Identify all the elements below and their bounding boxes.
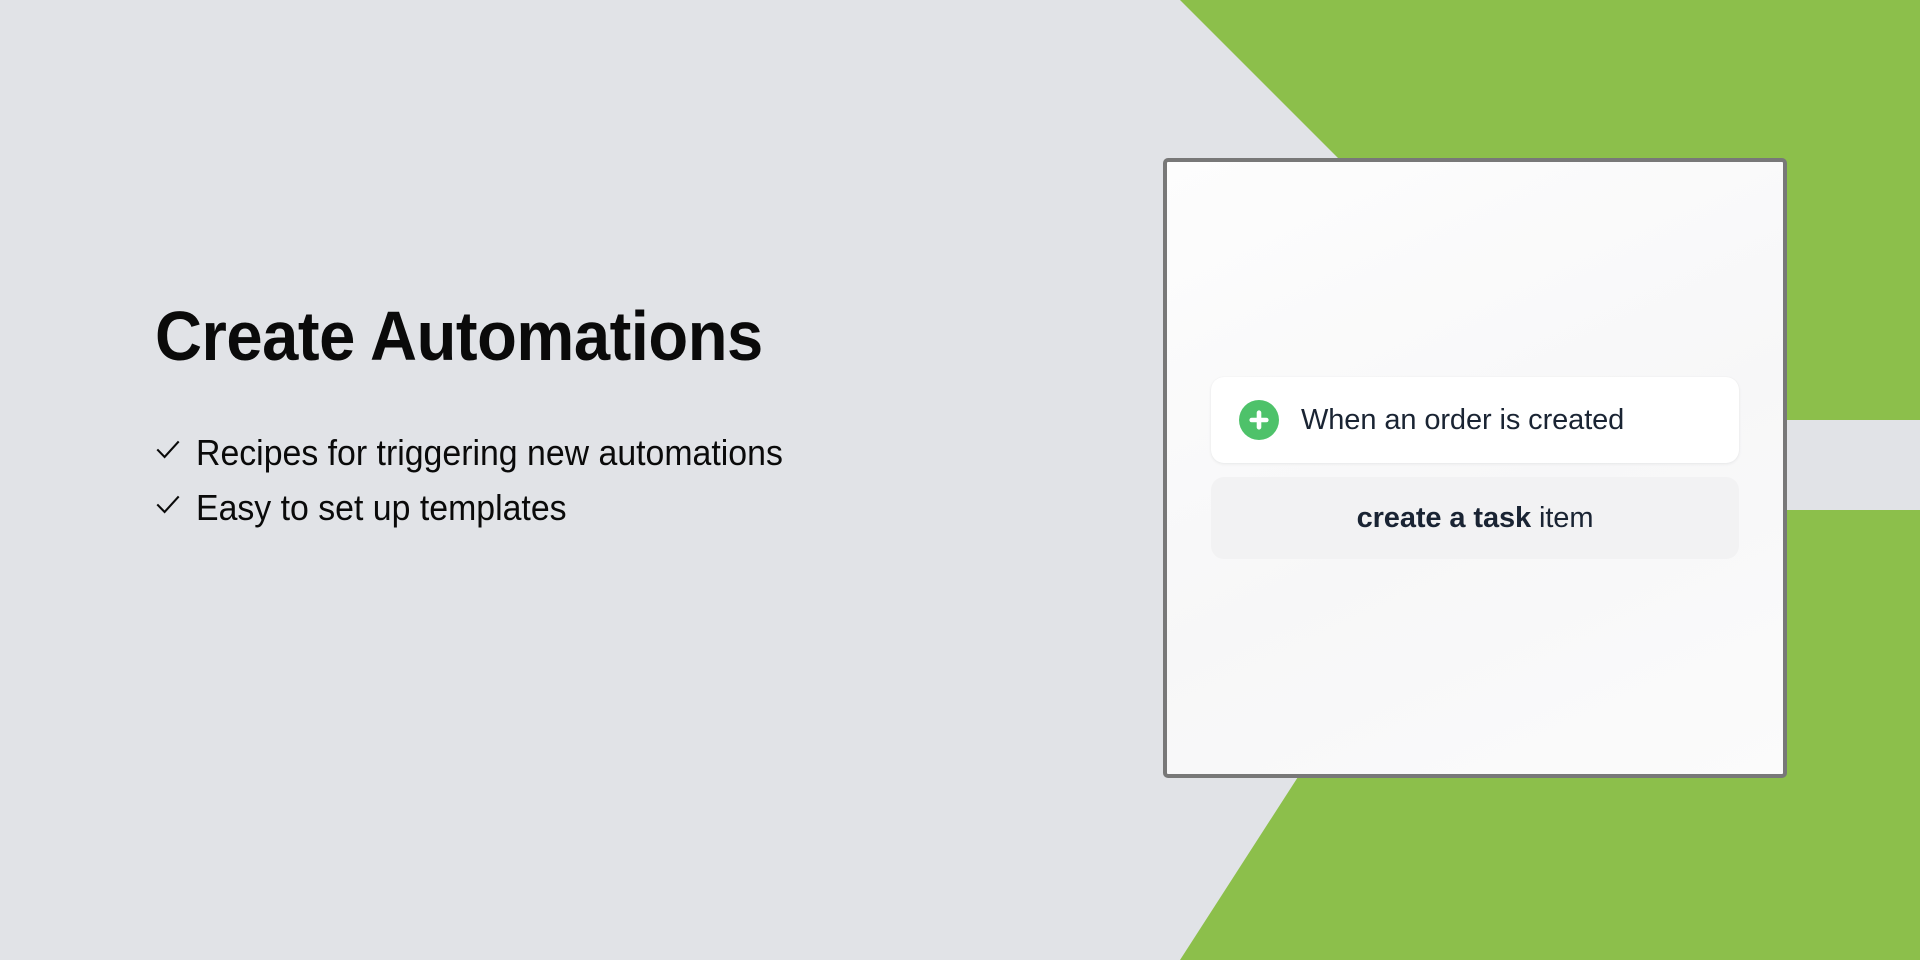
list-item: Recipes for triggering new automations: [155, 425, 1055, 480]
hero-copy: Create Automations Recipes for triggerin…: [155, 300, 1055, 535]
automation-preview-card: When an order is created create a task i…: [1163, 158, 1787, 778]
slide-canvas: Create Automations Recipes for triggerin…: [0, 0, 1920, 960]
check-icon: [155, 492, 181, 518]
automation-action-label-strong: create a task: [1357, 502, 1531, 534]
benefit-label: Easy to set up templates: [196, 480, 567, 535]
automation-action-label-regular: item: [1531, 502, 1593, 534]
automation-action-label: create a task item: [1357, 502, 1594, 535]
check-icon: [155, 437, 181, 463]
automation-trigger-row[interactable]: When an order is created: [1211, 377, 1739, 463]
page-title: Create Automations: [155, 300, 992, 373]
benefit-list: Recipes for triggering new automations E…: [155, 425, 1055, 535]
plus-circle-icon[interactable]: [1239, 400, 1279, 440]
benefit-label: Recipes for triggering new automations: [196, 425, 783, 480]
automation-trigger-label: When an order is created: [1301, 404, 1624, 437]
list-item: Easy to set up templates: [155, 480, 1055, 535]
automation-action-row[interactable]: create a task item: [1211, 477, 1739, 559]
